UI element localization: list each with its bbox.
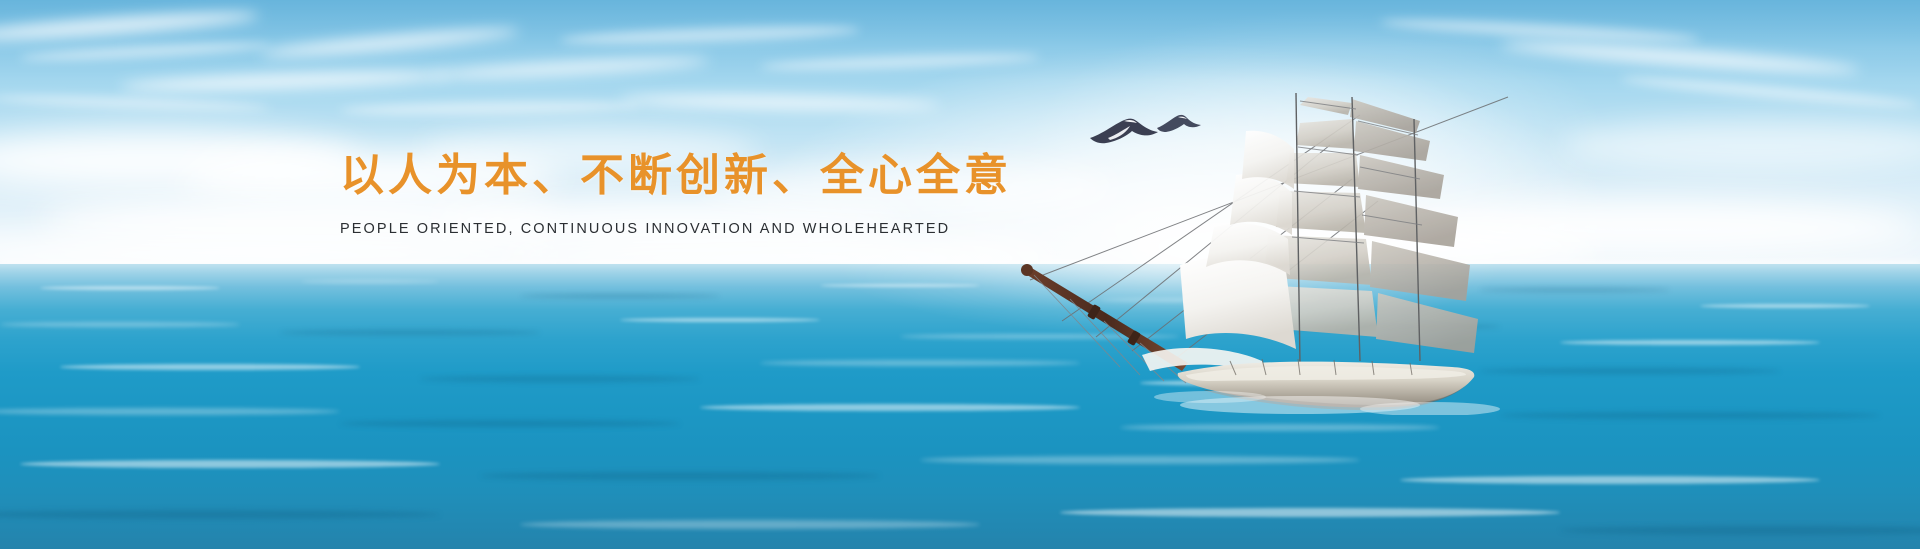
cloud-streak xyxy=(0,93,270,113)
banner-subtitle: PEOPLE ORIENTED, CONTINUOUS INNOVATION A… xyxy=(340,220,940,238)
banner-headline: 以人为本、不断创新、全心全意 xyxy=(340,150,940,202)
banner-text-block: 以人为本、不断创新、全心全意 PEOPLE ORIENTED, CONTINUO… xyxy=(340,150,940,238)
cloud-streak xyxy=(340,99,640,116)
cloud xyxy=(1560,120,1920,172)
hero-banner: 以人为本、不断创新、全心全意 PEOPLE ORIENTED, CONTINUO… xyxy=(0,0,1920,549)
tall-sailing-ship xyxy=(1000,75,1520,415)
sky-background xyxy=(0,0,1920,272)
cloud-streak xyxy=(620,93,940,112)
